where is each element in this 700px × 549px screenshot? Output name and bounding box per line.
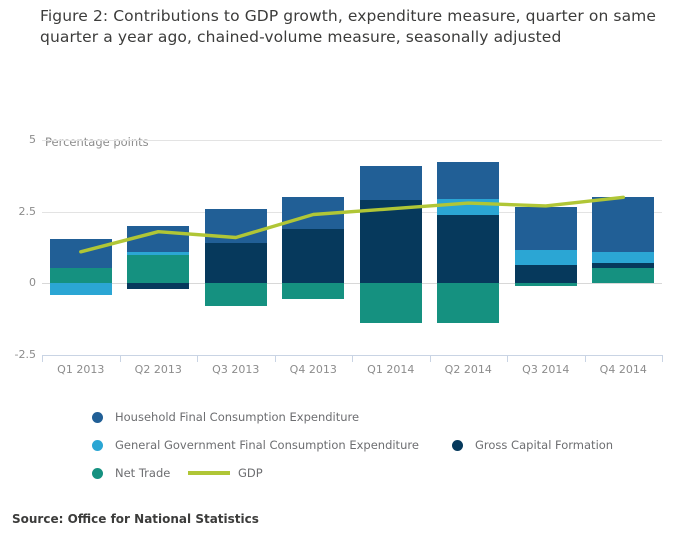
bar-group[interactable] — [50, 140, 112, 355]
bar-segment — [360, 200, 422, 283]
x-axis: Q1 2013Q2 2013Q3 2013Q4 2013Q1 2014Q2 20… — [42, 355, 662, 381]
x-tick-mark — [430, 355, 431, 362]
x-tick-mark — [352, 355, 353, 362]
bar-segment — [205, 283, 267, 306]
x-tick-mark — [197, 355, 198, 362]
x-axis-label: Q1 2014 — [352, 363, 430, 376]
legend-item-gross-capital-formation[interactable]: Gross Capital Formation — [452, 438, 613, 452]
bar-group[interactable] — [360, 140, 422, 355]
bar-segment — [127, 283, 189, 289]
legend-item-general-government[interactable]: General Government Final Consumption Exp… — [92, 438, 419, 452]
legend-item-net-trade[interactable]: Net Trade — [92, 466, 170, 480]
y-tick-label: 5 — [29, 133, 36, 146]
legend-line-gdp — [188, 471, 230, 475]
bar-segment — [282, 197, 344, 229]
bar-segment — [50, 283, 112, 294]
bar-segment — [437, 283, 499, 323]
x-tick-mark — [275, 355, 276, 362]
figure-title: Figure 2: Contributions to GDP growth, e… — [40, 6, 680, 48]
legend-dot-household — [92, 412, 103, 423]
legend-item-household[interactable]: Household Final Consumption Expenditure — [92, 410, 359, 424]
bar-segment — [437, 215, 499, 284]
x-axis-label: Q1 2013 — [42, 363, 120, 376]
bar-segment — [515, 283, 577, 286]
legend-label-household: Household Final Consumption Expenditure — [115, 410, 359, 424]
bar-segment — [127, 226, 189, 252]
y-tick-label: 0 — [29, 276, 36, 289]
bar-group[interactable] — [205, 140, 267, 355]
legend-label-gdp: GDP — [238, 466, 263, 480]
x-axis-label: Q4 2014 — [585, 363, 663, 376]
x-axis-label: Q3 2014 — [507, 363, 585, 376]
legend-item-gdp[interactable]: GDP — [188, 466, 263, 480]
x-axis-label: Q4 2013 — [275, 363, 353, 376]
legend-label-gross-capital-formation: Gross Capital Formation — [475, 438, 613, 452]
bar-segment — [50, 239, 112, 268]
source-note: Source: Office for National Statistics — [12, 512, 259, 526]
x-tick-mark — [507, 355, 508, 362]
x-tick-mark — [585, 355, 586, 362]
bar-group[interactable] — [437, 140, 499, 355]
bar-segment — [437, 199, 499, 215]
bar-segment — [515, 265, 577, 284]
bar-segment — [50, 268, 112, 284]
bar-group[interactable] — [515, 140, 577, 355]
y-tick-label: -2.5 — [15, 348, 36, 361]
bar-segment — [127, 252, 189, 255]
y-axis-tick-labels: -2.502.55 — [0, 140, 40, 355]
bar-segment — [205, 209, 267, 243]
legend-dot-gross-capital-formation — [452, 440, 463, 451]
bar-segment — [282, 283, 344, 299]
bar-segment — [515, 250, 577, 264]
x-tick-mark — [120, 355, 121, 362]
x-axis-label: Q2 2013 — [120, 363, 198, 376]
bar-segment — [205, 243, 267, 283]
x-axis-label: Q3 2013 — [197, 363, 275, 376]
x-tick-mark — [42, 355, 43, 362]
legend-dot-general-government — [92, 440, 103, 451]
bar-group[interactable] — [127, 140, 189, 355]
bar-segment — [592, 263, 654, 267]
legend-label-net-trade: Net Trade — [115, 466, 170, 480]
bar-segment — [592, 252, 654, 263]
x-axis-label: Q2 2014 — [430, 363, 508, 376]
chart-plot-area — [42, 140, 662, 355]
bar-group[interactable] — [282, 140, 344, 355]
bar-segment — [592, 268, 654, 284]
chart-legend: Household Final Consumption Expenditure … — [0, 405, 700, 480]
bar-segment — [360, 166, 422, 200]
bar-group[interactable] — [592, 140, 654, 355]
bar-segment — [282, 229, 344, 283]
bar-segment — [127, 255, 189, 284]
x-tick-mark — [662, 355, 663, 362]
bar-segment — [515, 207, 577, 250]
legend-dot-net-trade — [92, 468, 103, 479]
bar-segment — [437, 162, 499, 199]
legend-label-general-government: General Government Final Consumption Exp… — [115, 438, 419, 452]
bar-segment — [592, 197, 654, 251]
bar-segment — [360, 283, 422, 323]
y-tick-label: 2.5 — [19, 205, 37, 218]
